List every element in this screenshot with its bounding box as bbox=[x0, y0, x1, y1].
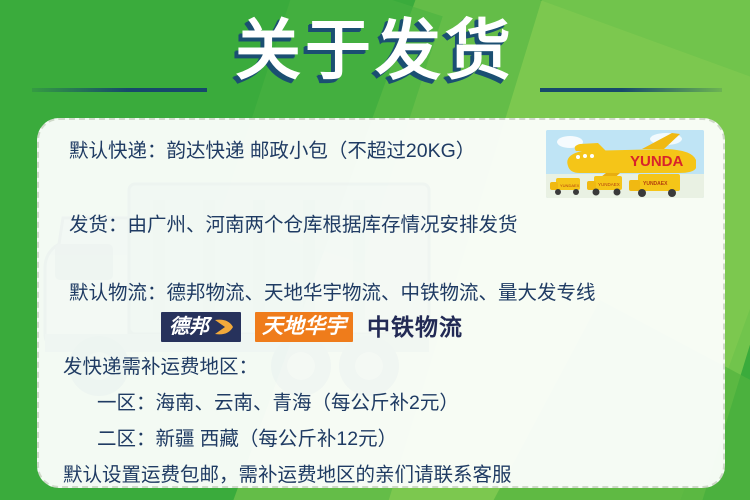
title-rule-right bbox=[540, 88, 722, 92]
arrow-right-icon bbox=[212, 316, 236, 338]
logo-zhongtie: 中铁物流 bbox=[367, 314, 463, 340]
line-default-express: 默认快递：韵达快递 邮政小包（不超过20KG） bbox=[69, 134, 475, 163]
shipping-info-banner: 关于发货 bbox=[0, 0, 750, 500]
logistics-logo-strip: 德邦 天地华宇 中铁物流 bbox=[161, 312, 463, 342]
line-zone-one: 一区：海南、云南、青海（每公斤补2元） bbox=[97, 386, 459, 415]
logo-deppon-text: 德邦 bbox=[169, 316, 209, 338]
page-title: 关于发货 bbox=[0, 10, 750, 90]
line-default-logistics: 默认物流：德邦物流、天地华宇物流、中铁物流、量大发专线 bbox=[69, 276, 596, 305]
shipping-details-card: YUNDA YUNDAEX YUNDAEX bbox=[37, 118, 725, 488]
line-zone-two: 二区：新疆 西藏（每公斤补12元） bbox=[97, 422, 397, 451]
line-surcharge-heading: 发快递需补运费地区： bbox=[63, 350, 258, 379]
line-shipping-origin: 发货：由广州、河南两个仓库根据库存情况安排发货 bbox=[69, 208, 518, 237]
line-free-shipping-note: 默认设置运费包邮，需补运费地区的亲们请联系客服 bbox=[63, 458, 512, 487]
shipping-text-block: 默认快递：韵达快递 邮政小包（不超过20KG） 发货：由广州、河南两个仓库根据库… bbox=[39, 120, 723, 486]
logo-deppon: 德邦 bbox=[161, 312, 241, 342]
logo-tiandihuayu: 天地华宇 bbox=[255, 312, 353, 342]
banner-header: 关于发货 bbox=[0, 0, 750, 112]
title-rule-left bbox=[32, 88, 207, 92]
